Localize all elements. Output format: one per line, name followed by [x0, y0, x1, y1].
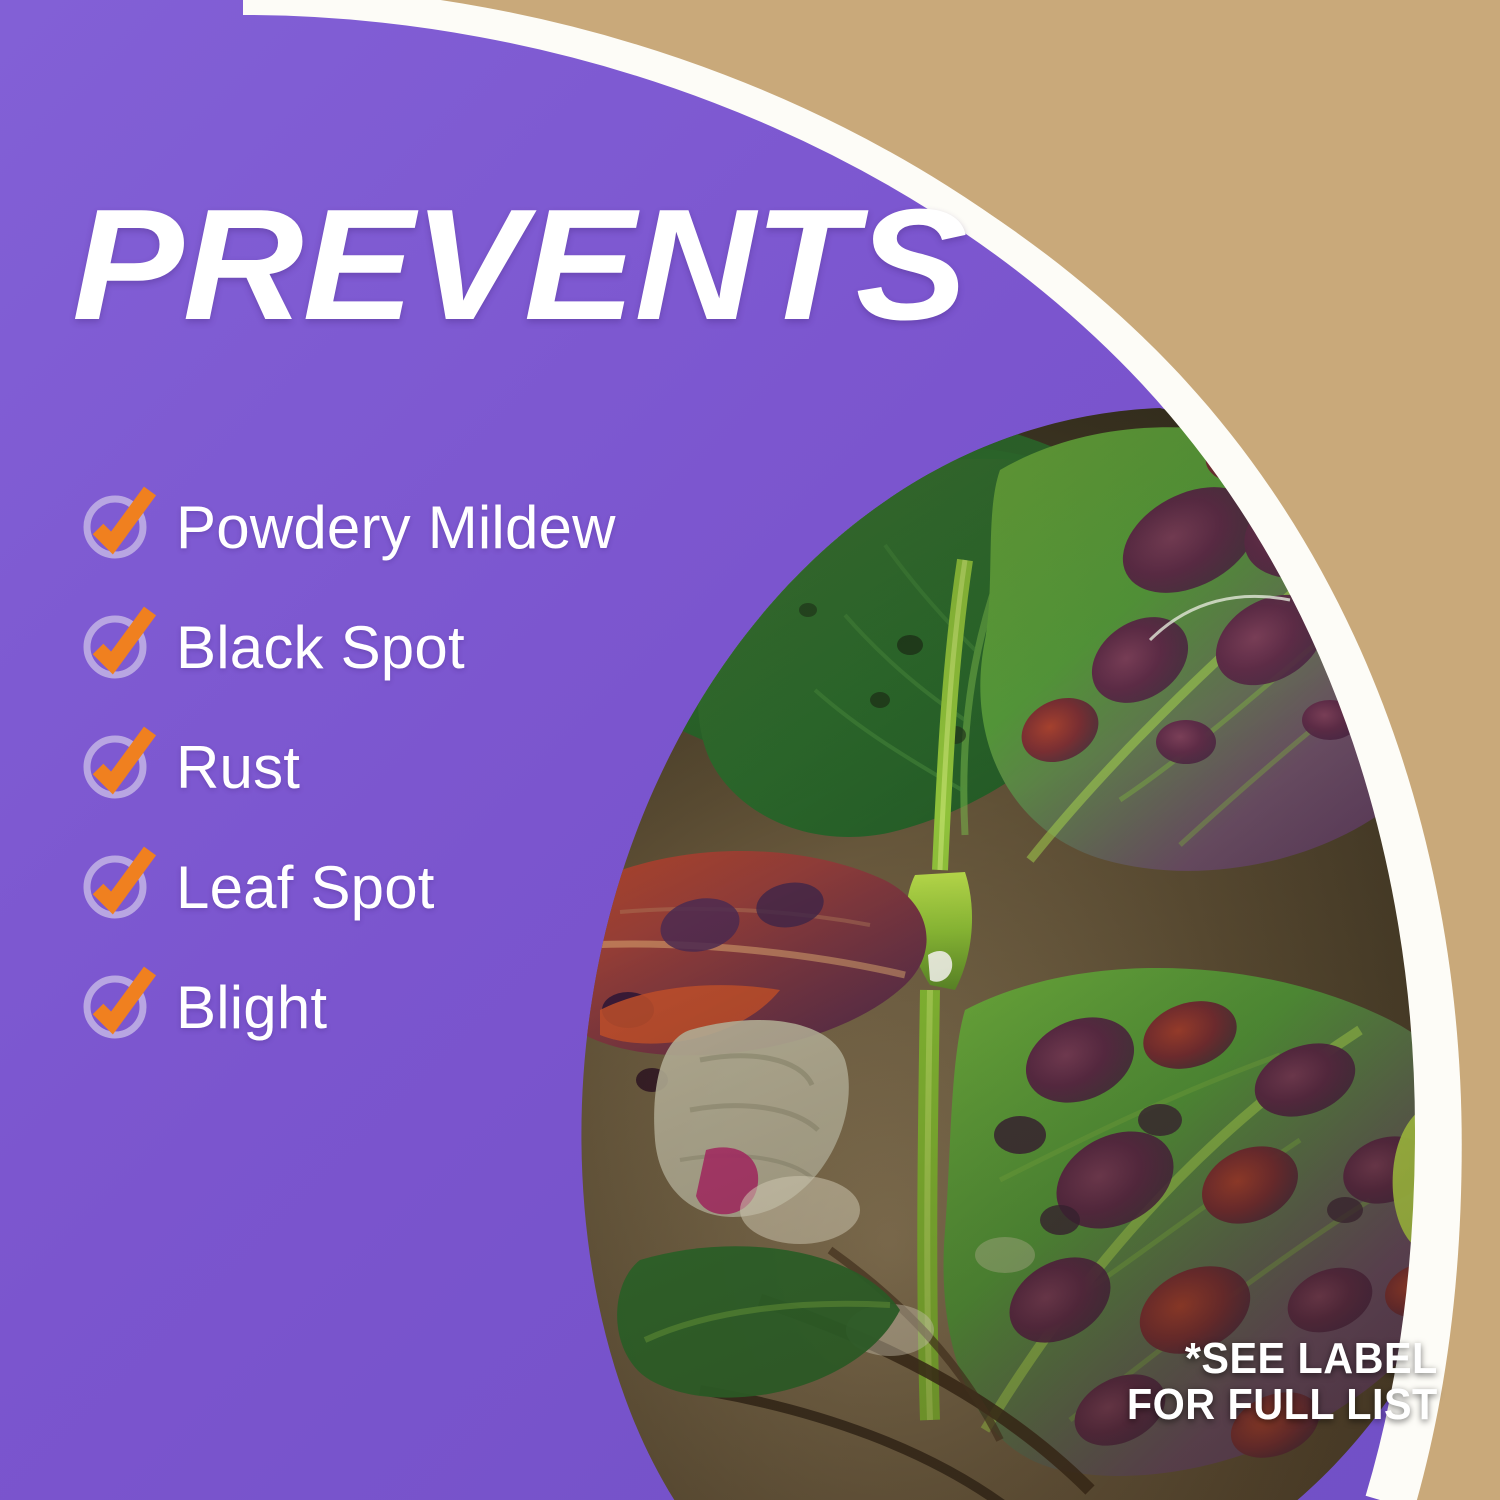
list-item: Blight — [78, 948, 718, 1068]
prevents-list: Powdery Mildew Black Spot Rust — [78, 468, 718, 1068]
check-circle-icon — [78, 611, 152, 685]
list-item-label: Rust — [176, 738, 300, 798]
list-item-label: Blight — [176, 978, 327, 1038]
list-item: Black Spot — [78, 588, 718, 708]
check-circle-icon — [78, 491, 152, 565]
list-item: Leaf Spot — [78, 828, 718, 948]
list-item: Powdery Mildew — [78, 468, 718, 588]
check-circle-icon — [78, 971, 152, 1045]
check-circle-icon — [78, 851, 152, 925]
list-item-label: Powdery Mildew — [176, 498, 616, 558]
check-circle-icon — [78, 731, 152, 805]
list-item-label: Black Spot — [176, 618, 465, 678]
footnote: *SEE LABEL FOR FULL LIST — [1127, 1336, 1438, 1428]
page-title: PREVENTS — [72, 186, 966, 344]
footnote-line-1: *SEE LABEL — [1127, 1336, 1438, 1382]
list-item-label: Leaf Spot — [176, 858, 435, 918]
list-item: Rust — [78, 708, 718, 828]
promo-graphic: PREVENTS Powdery Mildew Black Spot — [0, 0, 1500, 1500]
footnote-line-2: FOR FULL LIST — [1127, 1382, 1438, 1428]
